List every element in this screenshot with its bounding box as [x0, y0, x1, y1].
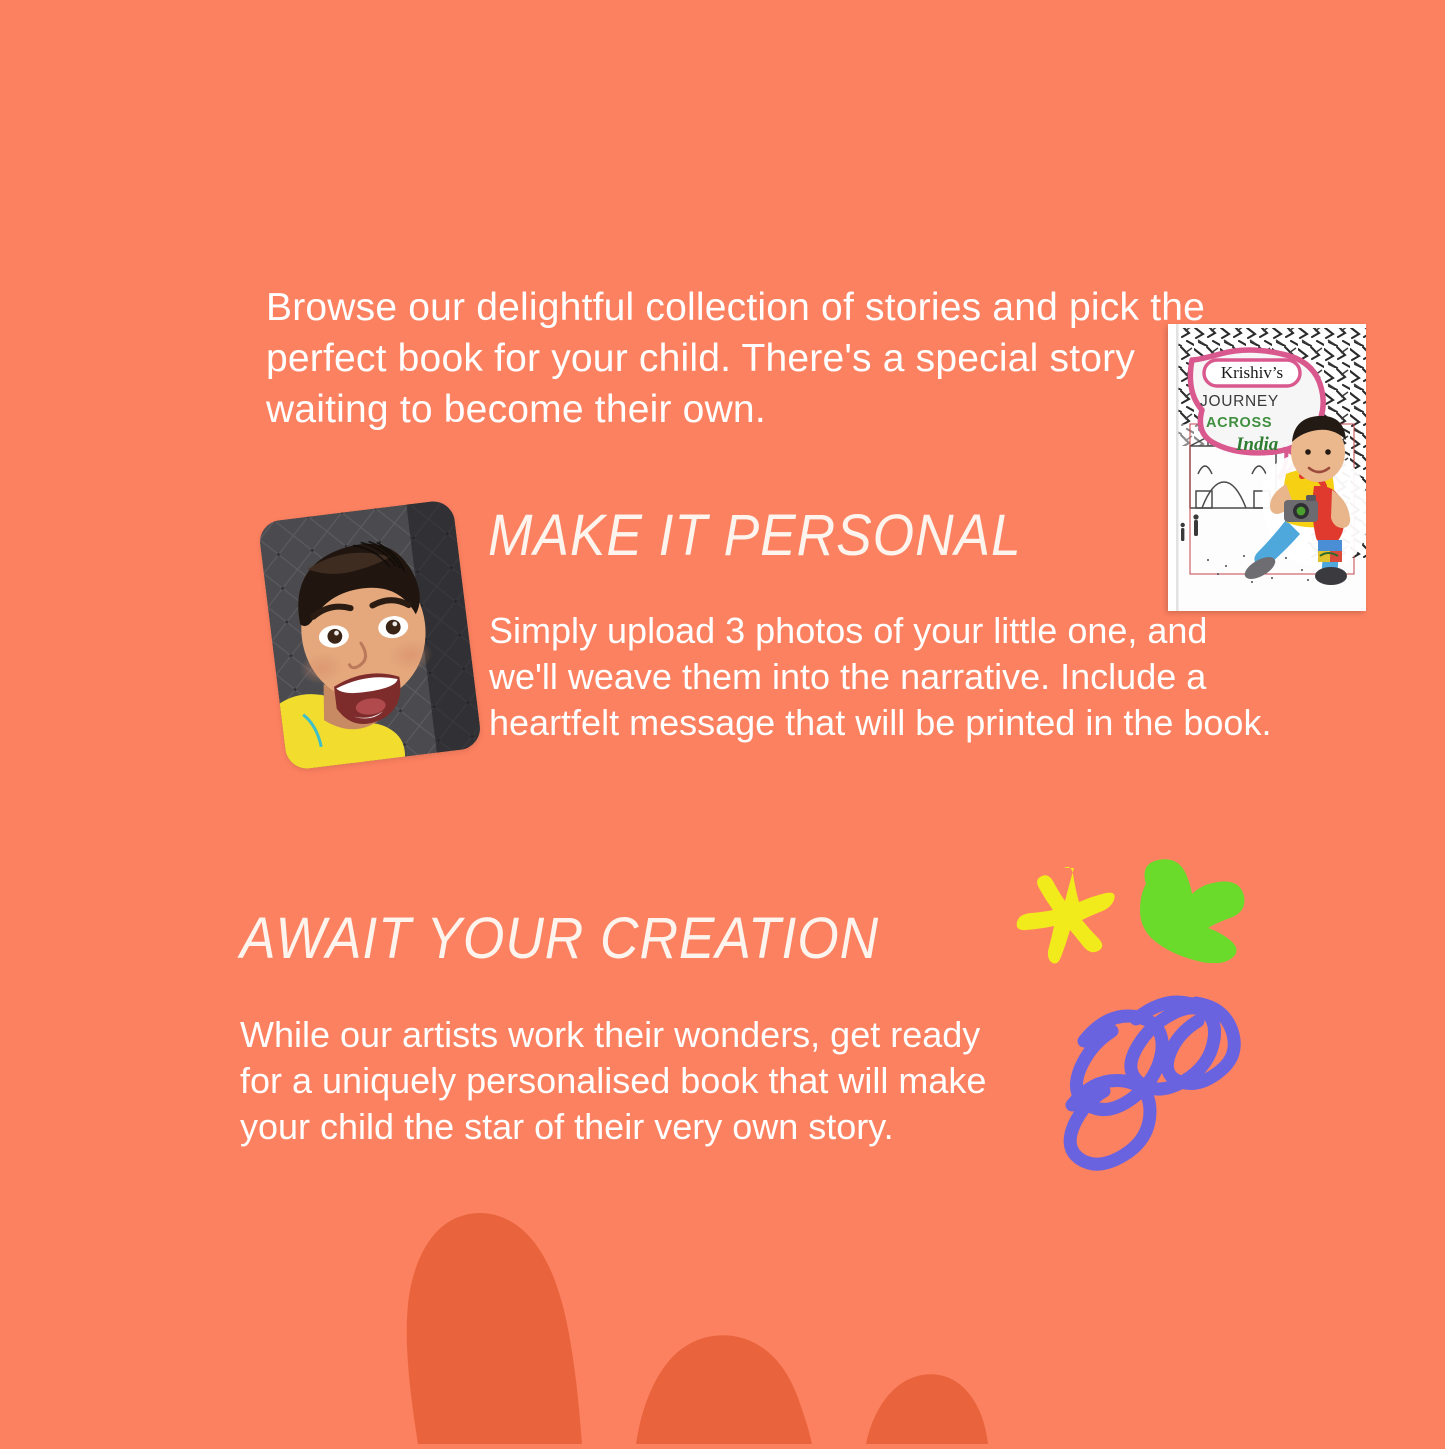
loops-doodle-icon: [1050, 975, 1265, 1175]
section-heading-make-it-personal: MAKE IT PERSONAL: [488, 505, 1022, 567]
section-heading-await-your-creation: AWAIT YOUR CREATION: [240, 908, 879, 970]
child-photo: [257, 499, 482, 771]
intro-paragraph: Browse our delightful collection of stor…: [266, 282, 1216, 435]
book-cover-parcel: [1318, 540, 1342, 562]
star-doodle-icon: [1012, 862, 1122, 977]
book-name-line: Krishiv’s: [1221, 363, 1283, 382]
book-title-line-3: India: [1235, 434, 1279, 455]
blob-doodle-icon: [1128, 858, 1248, 963]
book-cover-image: Krishiv’s JOURNEY ACROSS India: [1168, 324, 1366, 611]
section-body-make-it-personal: Simply upload 3 photos of your little on…: [489, 608, 1279, 746]
section-body-await-your-creation: While our artists work their wonders, ge…: [240, 1012, 1020, 1150]
book-title-line-1: JOURNEY: [1200, 393, 1279, 410]
book-title-line-2: ACROSS: [1206, 415, 1272, 431]
